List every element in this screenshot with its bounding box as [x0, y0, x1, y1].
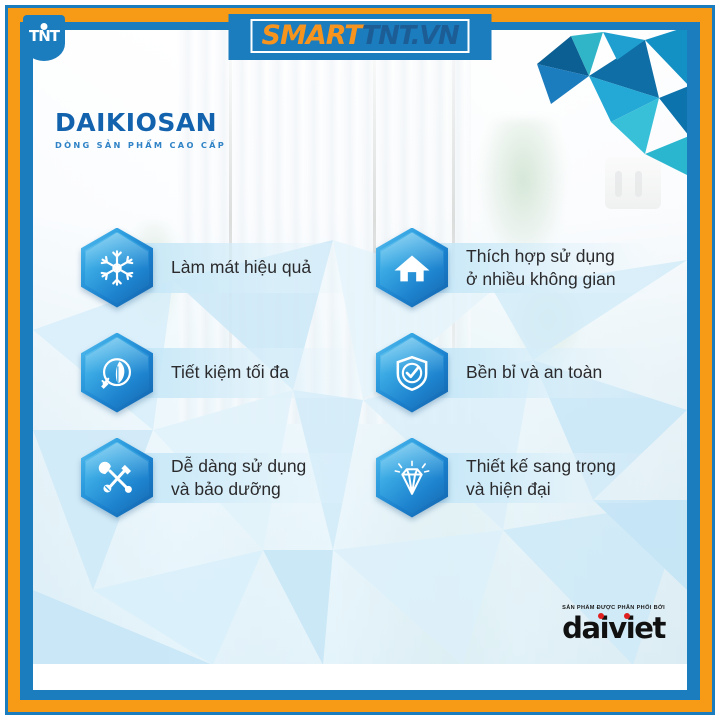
daiviet-logo-text: daiviet [562, 611, 665, 645]
promo-poster: DAIKIOSAN DÒNG SẢN PHẨM CAO CẤP [0, 0, 720, 720]
feature-grid: Làm mát hiệu quả Thích hợp sử dụng ở nhi… [81, 215, 667, 530]
feature-icon-hexagon [376, 228, 448, 308]
distributor-logo-block: SẢN PHẨM ĐƯỢC PHÂN PHỐI BỞI daiviet [562, 605, 665, 643]
feature-label: Thiết kế sang trọng và hiện đại [466, 455, 616, 500]
site-banner-inner: SMART TNT.VN [251, 19, 470, 53]
feature-icon-hexagon [81, 333, 153, 413]
tools-wrench-screwdriver-icon [96, 457, 138, 499]
site-name-smart: SMART [262, 22, 362, 49]
site-banner[interactable]: SMART TNT.VN [229, 14, 492, 60]
feature-icon-hexagon [81, 228, 153, 308]
brand-name: DAIKIOSAN [55, 110, 226, 135]
tnt-person-dot [41, 23, 48, 30]
feature-icon-hexagon [376, 438, 448, 518]
feature-label: Tiết kiệm tối đa [171, 361, 289, 383]
daiviet-logo: daiviet [562, 614, 665, 643]
feature-label: Thích hợp sử dụng ở nhiều không gian [466, 245, 616, 290]
daikiosan-logo: DAIKIOSAN DÒNG SẢN PHẨM CAO CẤP [55, 110, 226, 150]
house-icon [392, 248, 432, 288]
corner-polygon-graphic [499, 30, 687, 176]
shield-check-icon [392, 353, 432, 393]
feature-item[interactable]: Tiết kiệm tối đa [81, 320, 376, 425]
feature-label: Bền bỉ và an toàn [466, 361, 602, 383]
brand-tagline: DÒNG SẢN PHẨM CAO CẤP [55, 140, 226, 150]
tnt-logo-icon[interactable]: TNT [23, 15, 65, 61]
feature-item[interactable]: Bền bỉ và an toàn [376, 320, 671, 425]
feature-icon-hexagon [376, 333, 448, 413]
content-card: DAIKIOSAN DÒNG SẢN PHẨM CAO CẤP [33, 30, 687, 665]
bottom-white-strip [33, 664, 687, 690]
site-name-tnt: TNT.VN [362, 23, 459, 49]
eco-plug-leaf-icon [97, 353, 137, 393]
feature-label: Dễ dàng sử dụng và bảo dưỡng [171, 455, 306, 500]
feature-icon-hexagon [81, 438, 153, 518]
feature-label: Làm mát hiệu quả [171, 256, 311, 278]
feature-item[interactable]: Thiết kế sang trọng và hiện đại [376, 425, 671, 530]
feature-item[interactable]: Làm mát hiệu quả [81, 215, 376, 320]
snowflake-icon [97, 248, 137, 288]
feature-item[interactable]: Dễ dàng sử dụng và bảo dưỡng [81, 425, 376, 530]
diamond-icon [391, 457, 433, 499]
feature-item[interactable]: Thích hợp sử dụng ở nhiều không gian [376, 215, 671, 320]
